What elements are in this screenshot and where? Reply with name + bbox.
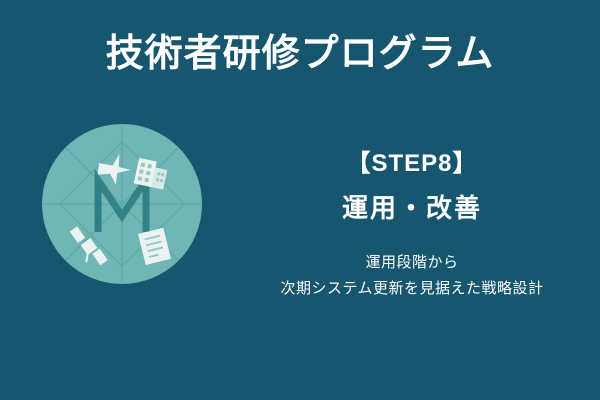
step-title: 運用・改善: [236, 193, 588, 224]
slide-canvas: 技術者研修プログラム: [0, 0, 600, 400]
satellite-icon: [65, 225, 113, 266]
document-icon: [138, 228, 171, 265]
emblem: [42, 124, 202, 284]
step-info-block: 【STEP8】 運用・改善 運用段階から 次期システム更新を見据えた戦略設計: [236, 150, 588, 302]
description-line-1: 運用段階から: [236, 250, 588, 276]
description-line-2: 次期システム更新を見据えた戦略設計: [236, 276, 588, 302]
step-label: 【STEP8】: [236, 150, 588, 179]
step-description: 運用段階から 次期システム更新を見据えた戦略設計: [236, 250, 588, 303]
emblem-graphics: [42, 124, 202, 284]
page-title: 技術者研修プログラム: [0, 34, 600, 76]
